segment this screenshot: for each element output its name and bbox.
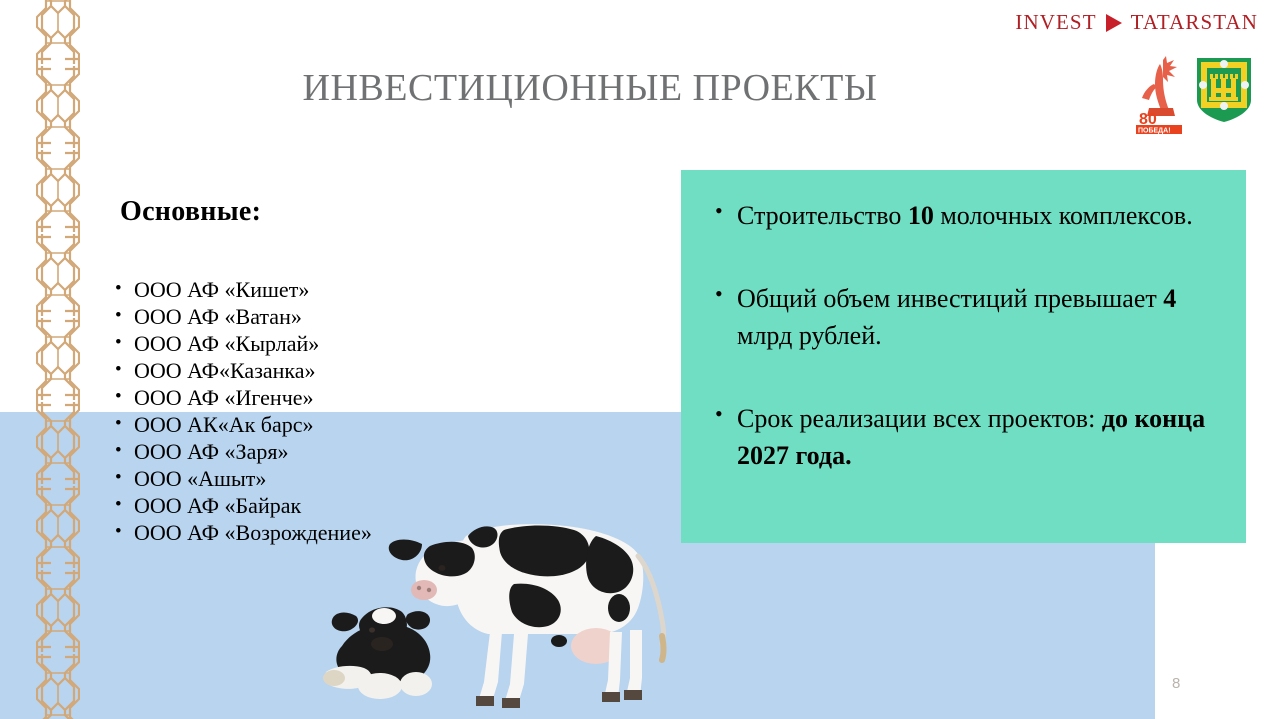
tatarstan-kremlin-emblem-icon: [1193, 54, 1255, 129]
company-name: ООО АФ«Казанка»: [134, 358, 316, 383]
company-name: ООО АФ «Игенче»: [134, 385, 314, 410]
key-facts-panel: Строительство 10 молочных комплексов.Общ…: [681, 170, 1246, 543]
company-list-item: ООО АФ «Ватан»: [110, 303, 580, 330]
right-triangle-icon: [1106, 14, 1122, 32]
key-fact-text: Срок реализации всех проектов:: [737, 404, 1102, 433]
company-name: ООО АФ «Заря»: [134, 439, 288, 464]
victory-caption: ПОБЕДА!: [1138, 128, 1171, 135]
company-name: ООО АФ «Кырлай»: [134, 331, 319, 356]
key-fact-item: Срок реализации всех проектов: до конца …: [711, 400, 1222, 474]
company-name: ООО АК«Ак барс»: [134, 412, 314, 437]
company-name: ООО АФ «Байрак: [134, 493, 301, 518]
key-fact-emphasis: 4: [1163, 284, 1176, 313]
key-fact-text: Общий объем инвестиций превышает: [737, 284, 1163, 313]
company-list-item: ООО АФ «Кишет»: [110, 276, 580, 303]
company-name: ООО «Ашыт»: [134, 466, 266, 491]
key-fact-text: молочных комплексов.: [934, 201, 1193, 230]
presentation-slide: INVEST TATARSTAN 80 ПОБЕДА!: [0, 0, 1280, 719]
page-title: ИНВЕСТИЦИОННЫЕ ПРОЕКТЫ: [0, 66, 1180, 110]
key-fact-text: Строительство: [737, 201, 908, 230]
company-list-item: ООО АФ «Игенче»: [110, 384, 580, 411]
invest-tatarstan-logo: INVEST TATARSTAN: [1015, 10, 1258, 35]
companies-section: Основные: ООО АФ «Кишет»ООО АФ «Ватан»ОО…: [110, 196, 580, 546]
company-list-item: ООО АК«Ак барс»: [110, 411, 580, 438]
company-list-item: ООО АФ «Заря»: [110, 438, 580, 465]
company-list-item: ООО АФ «Кырлай»: [110, 330, 580, 357]
brand-invest-text: INVEST: [1015, 10, 1096, 35]
key-fact-item: Общий объем инвестиций превышает 4 млрд …: [711, 280, 1222, 354]
key-fact-text: млрд рублей.: [737, 321, 882, 350]
key-fact-item: Строительство 10 молочных комплексов.: [711, 197, 1222, 234]
holstein-cow-and-calf-photo-icon: [318, 496, 728, 719]
key-facts-list: Строительство 10 молочных комплексов.Общ…: [681, 170, 1246, 474]
company-list-item: ООО «Ашыт»: [110, 465, 580, 492]
brand-tatarstan-text: TATARSTAN: [1131, 10, 1258, 35]
company-name: ООО АФ «Ватан»: [134, 304, 302, 329]
page-number: 8: [1172, 675, 1180, 692]
company-name: ООО АФ «Кишет»: [134, 277, 309, 302]
key-fact-emphasis: 10: [908, 201, 934, 230]
companies-heading: Основные:: [120, 196, 580, 228]
company-list-item: ООО АФ«Казанка»: [110, 357, 580, 384]
